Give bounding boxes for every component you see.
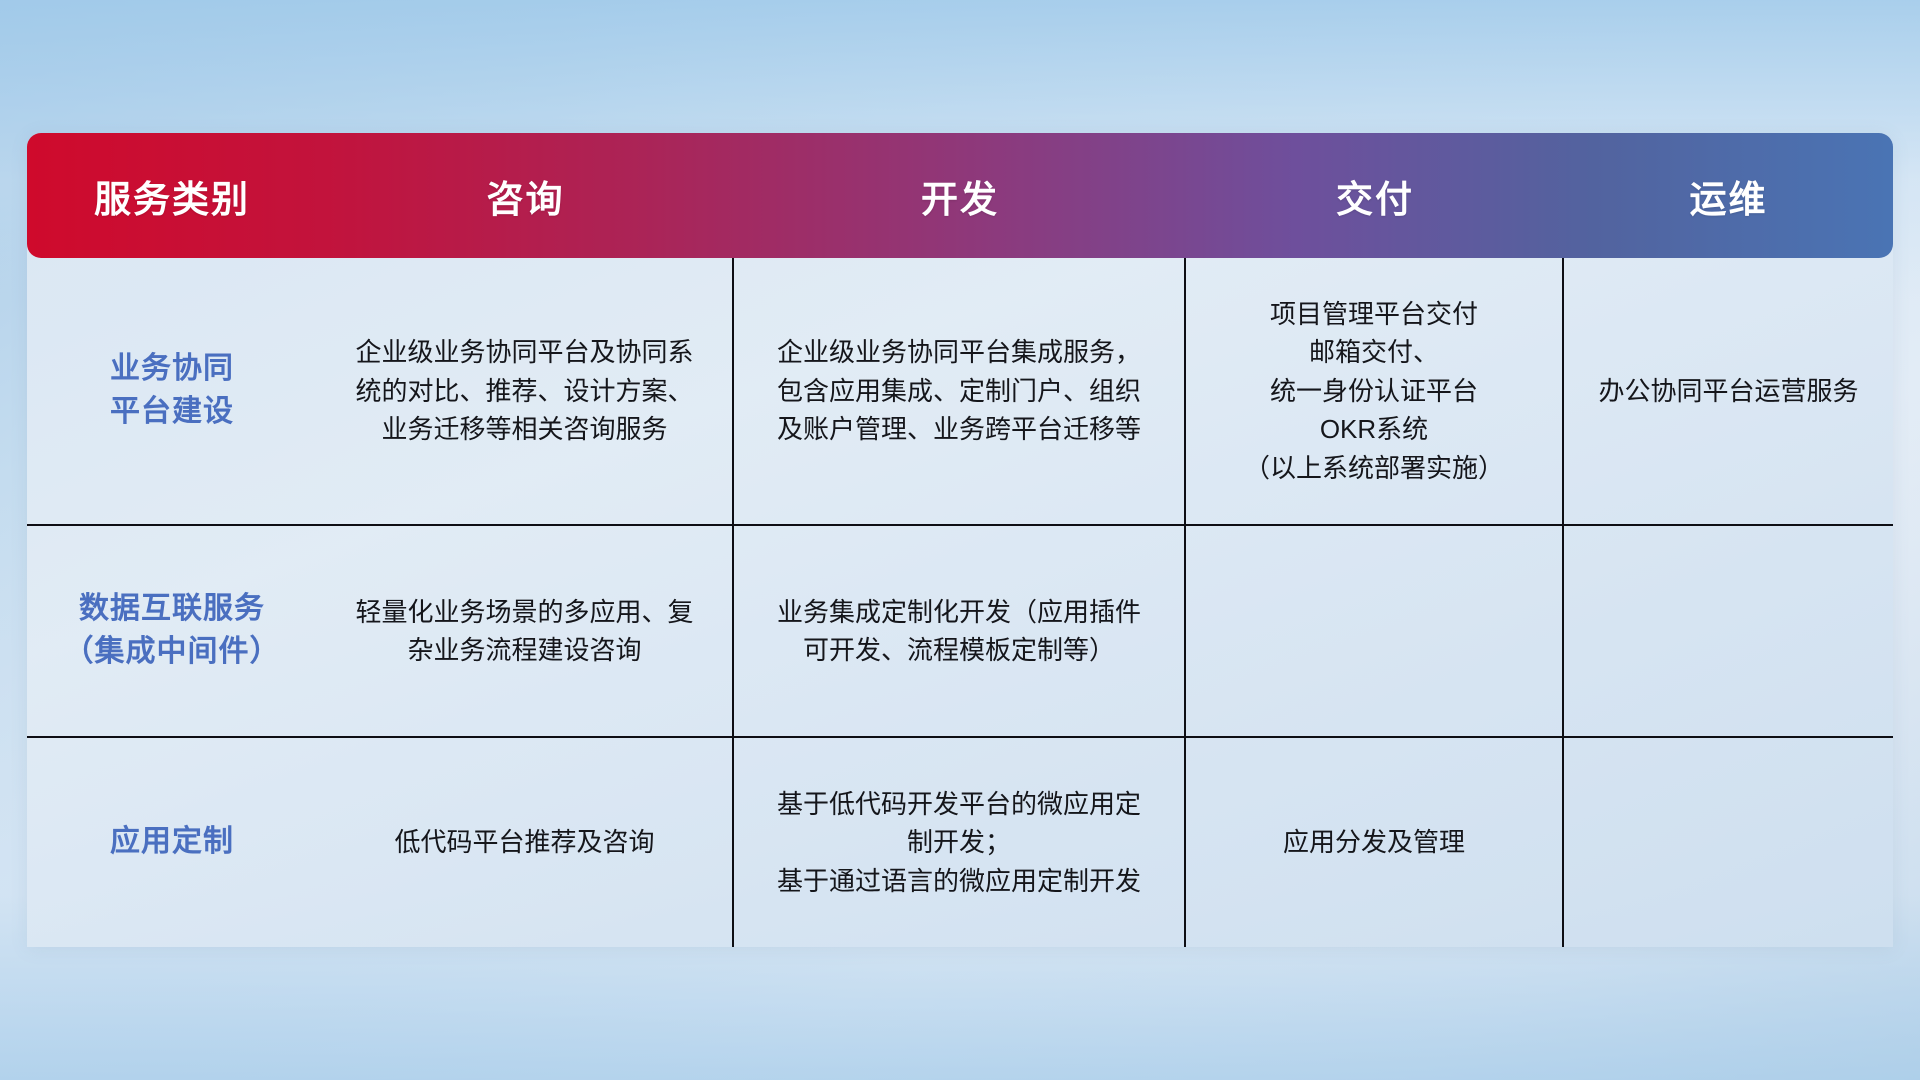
cell-development: 企业级业务协同平台集成服务， 包含应用集成、定制门户、组织 及账户管理、业务跨平… bbox=[734, 258, 1186, 524]
cell-operations bbox=[1564, 738, 1893, 947]
column-header-label: 服务类别 bbox=[94, 169, 250, 223]
cell-delivery: 项目管理平台交付 邮箱交付、 统一身份认证平台 OKR系统 （以上系统部署实施） bbox=[1186, 258, 1564, 524]
table-row: 业务协同 平台建设 企业级业务协同平台及协同系 统的对比、推荐、设计方案、 业务… bbox=[27, 258, 1893, 526]
column-header-operations: 运维 bbox=[1564, 133, 1893, 258]
column-header-delivery: 交付 bbox=[1186, 133, 1564, 258]
column-header-label: 咨询 bbox=[487, 169, 565, 223]
cell-consulting: 企业级业务协同平台及协同系 统的对比、推荐、设计方案、 业务迁移等相关咨询服务 bbox=[317, 258, 734, 524]
column-header-service-category: 服务类别 bbox=[27, 133, 317, 258]
column-header-label: 运维 bbox=[1690, 169, 1768, 223]
cell-consulting: 低代码平台推荐及咨询 bbox=[317, 738, 734, 947]
row-category-label: 数据互联服务 （集成中间件） bbox=[27, 526, 317, 736]
row-category-label: 应用定制 bbox=[27, 738, 317, 947]
column-header-label: 开发 bbox=[921, 169, 999, 223]
cell-operations bbox=[1564, 526, 1893, 736]
cell-delivery: 应用分发及管理 bbox=[1186, 738, 1564, 947]
column-header-development: 开发 bbox=[734, 133, 1186, 258]
table-row: 应用定制 低代码平台推荐及咨询 基于低代码开发平台的微应用定 制开发； 基于通过… bbox=[27, 738, 1893, 947]
table-body: 业务协同 平台建设 企业级业务协同平台及协同系 统的对比、推荐、设计方案、 业务… bbox=[27, 258, 1893, 947]
table-header-row: 服务类别 咨询 开发 交付 运维 bbox=[27, 133, 1893, 258]
cell-delivery bbox=[1186, 526, 1564, 736]
row-category-label: 业务协同 平台建设 bbox=[27, 258, 317, 524]
column-header-label: 交付 bbox=[1336, 169, 1414, 223]
service-matrix-table: 服务类别 咨询 开发 交付 运维 业务协同 平台建设 企业级业务协同平台及协同系… bbox=[27, 133, 1893, 947]
cell-operations: 办公协同平台运营服务 bbox=[1564, 258, 1893, 524]
table-row: 数据互联服务 （集成中间件） 轻量化业务场景的多应用、复 杂业务流程建设咨询 业… bbox=[27, 526, 1893, 738]
column-header-consulting: 咨询 bbox=[317, 133, 734, 258]
table-card: 服务类别 咨询 开发 交付 运维 业务协同 平台建设 企业级业务协同平台及协同系… bbox=[27, 133, 1893, 947]
cell-consulting: 轻量化业务场景的多应用、复 杂业务流程建设咨询 bbox=[317, 526, 734, 736]
cell-development: 基于低代码开发平台的微应用定 制开发； 基于通过语言的微应用定制开发 bbox=[734, 738, 1186, 947]
cell-development: 业务集成定制化开发（应用插件 可开发、流程模板定制等） bbox=[734, 526, 1186, 736]
